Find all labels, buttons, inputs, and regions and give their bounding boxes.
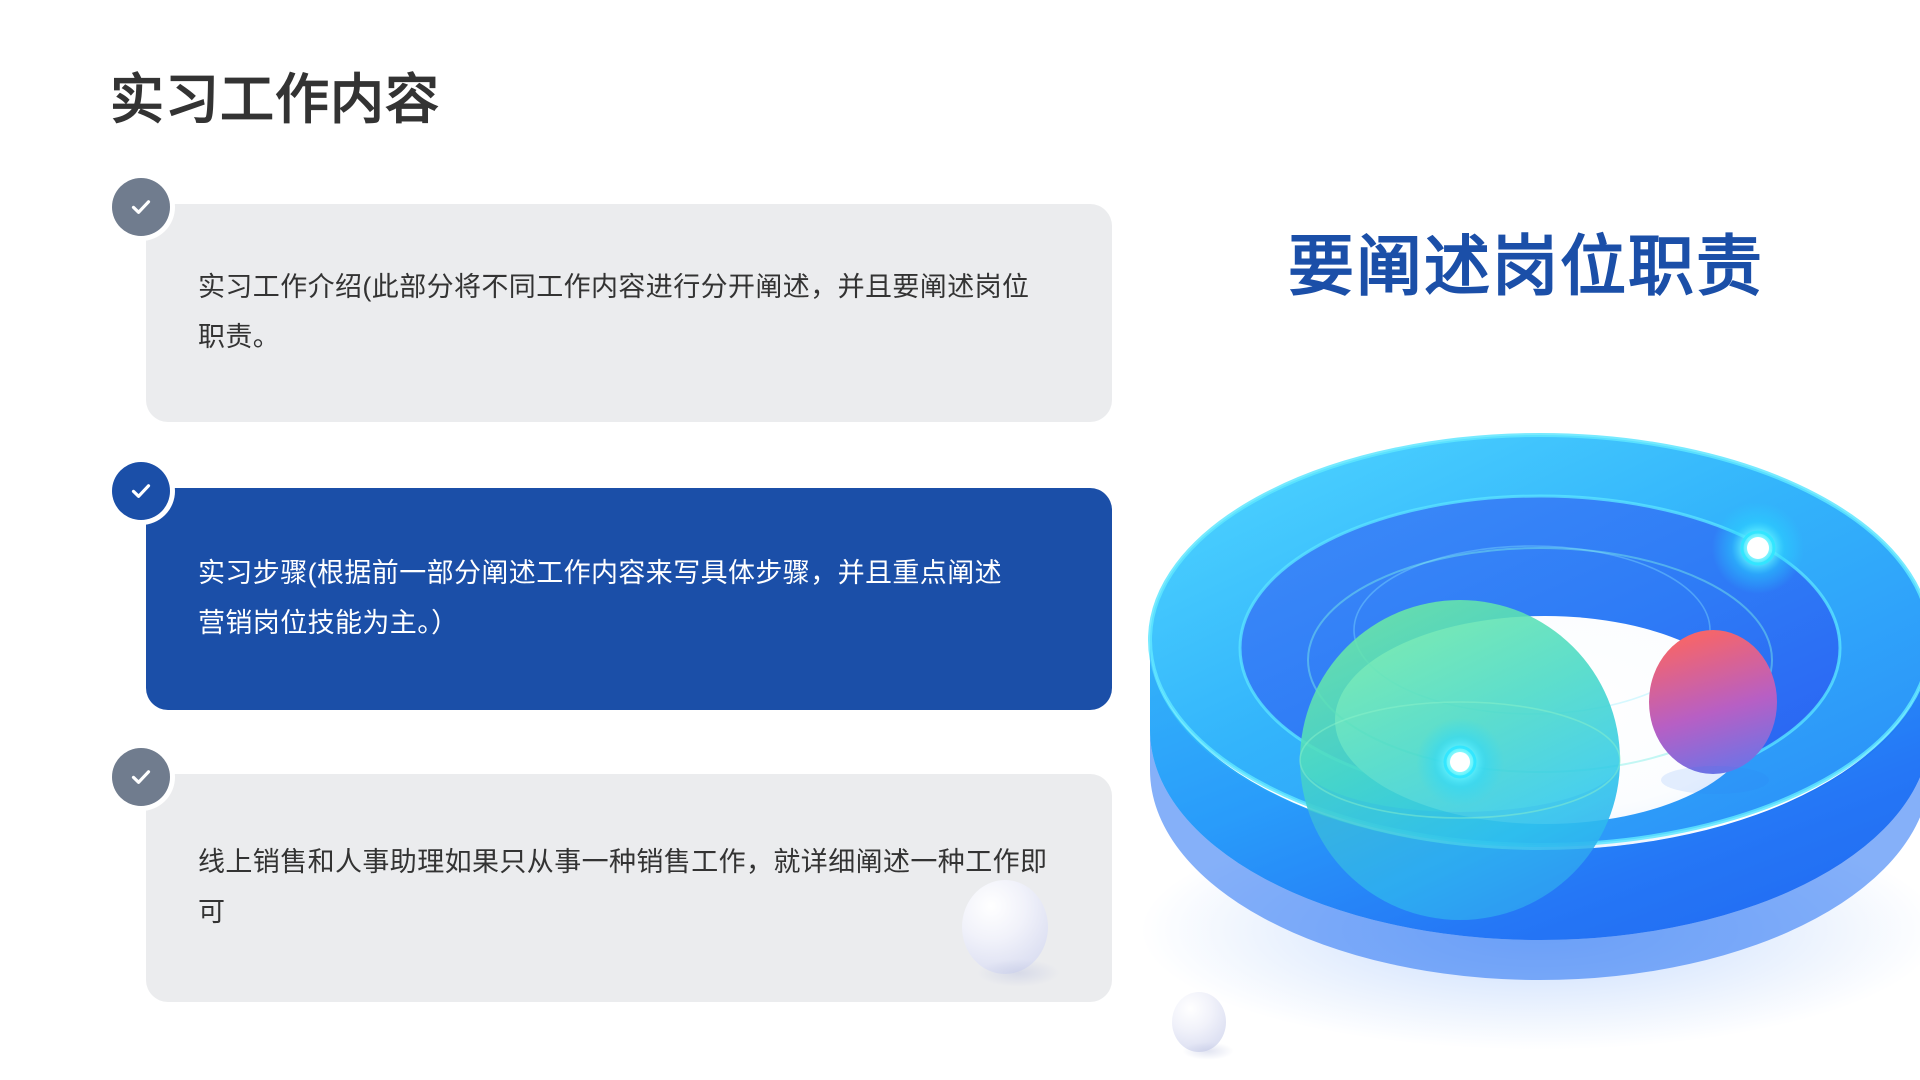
- page-title: 实习工作内容: [110, 68, 440, 133]
- content-card-1-text: 实习工作介绍(此部分将不同工作内容进行分开阐述，并且要阐述岗位职责。: [146, 263, 1112, 363]
- 3d-torus-spheres-illustration: [1140, 430, 1920, 1050]
- slide-root: 实习工作内容 实习工作介绍(此部分将不同工作内容进行分开阐述，并且要阐述岗位职责…: [0, 0, 1920, 1080]
- lavender-sphere-icon: [962, 880, 1048, 974]
- content-card-2-text: 实习步骤(根据前一部分阐述工作内容来写具体步骤，并且重点阐述营销岗位技能为主。）: [146, 549, 1112, 649]
- check-icon: [112, 462, 170, 520]
- right-panel-heading: 要阐述岗位职责: [1288, 213, 1764, 309]
- check-icon: [112, 178, 170, 236]
- content-card-list: 实习工作介绍(此部分将不同工作内容进行分开阐述，并且要阐述岗位职责。 实习步骤(…: [146, 204, 1112, 1002]
- content-card-1[interactable]: 实习工作介绍(此部分将不同工作内容进行分开阐述，并且要阐述岗位职责。: [146, 204, 1112, 422]
- check-icon: [112, 748, 170, 806]
- lavender-sphere-small-icon: [1172, 992, 1226, 1052]
- content-card-2[interactable]: 实习步骤(根据前一部分阐述工作内容来写具体步骤，并且重点阐述营销岗位技能为主。）: [146, 488, 1112, 710]
- content-card-3[interactable]: 线上销售和人事助理如果只从事一种销售工作，就详细阐述一种工作即可: [146, 774, 1112, 1002]
